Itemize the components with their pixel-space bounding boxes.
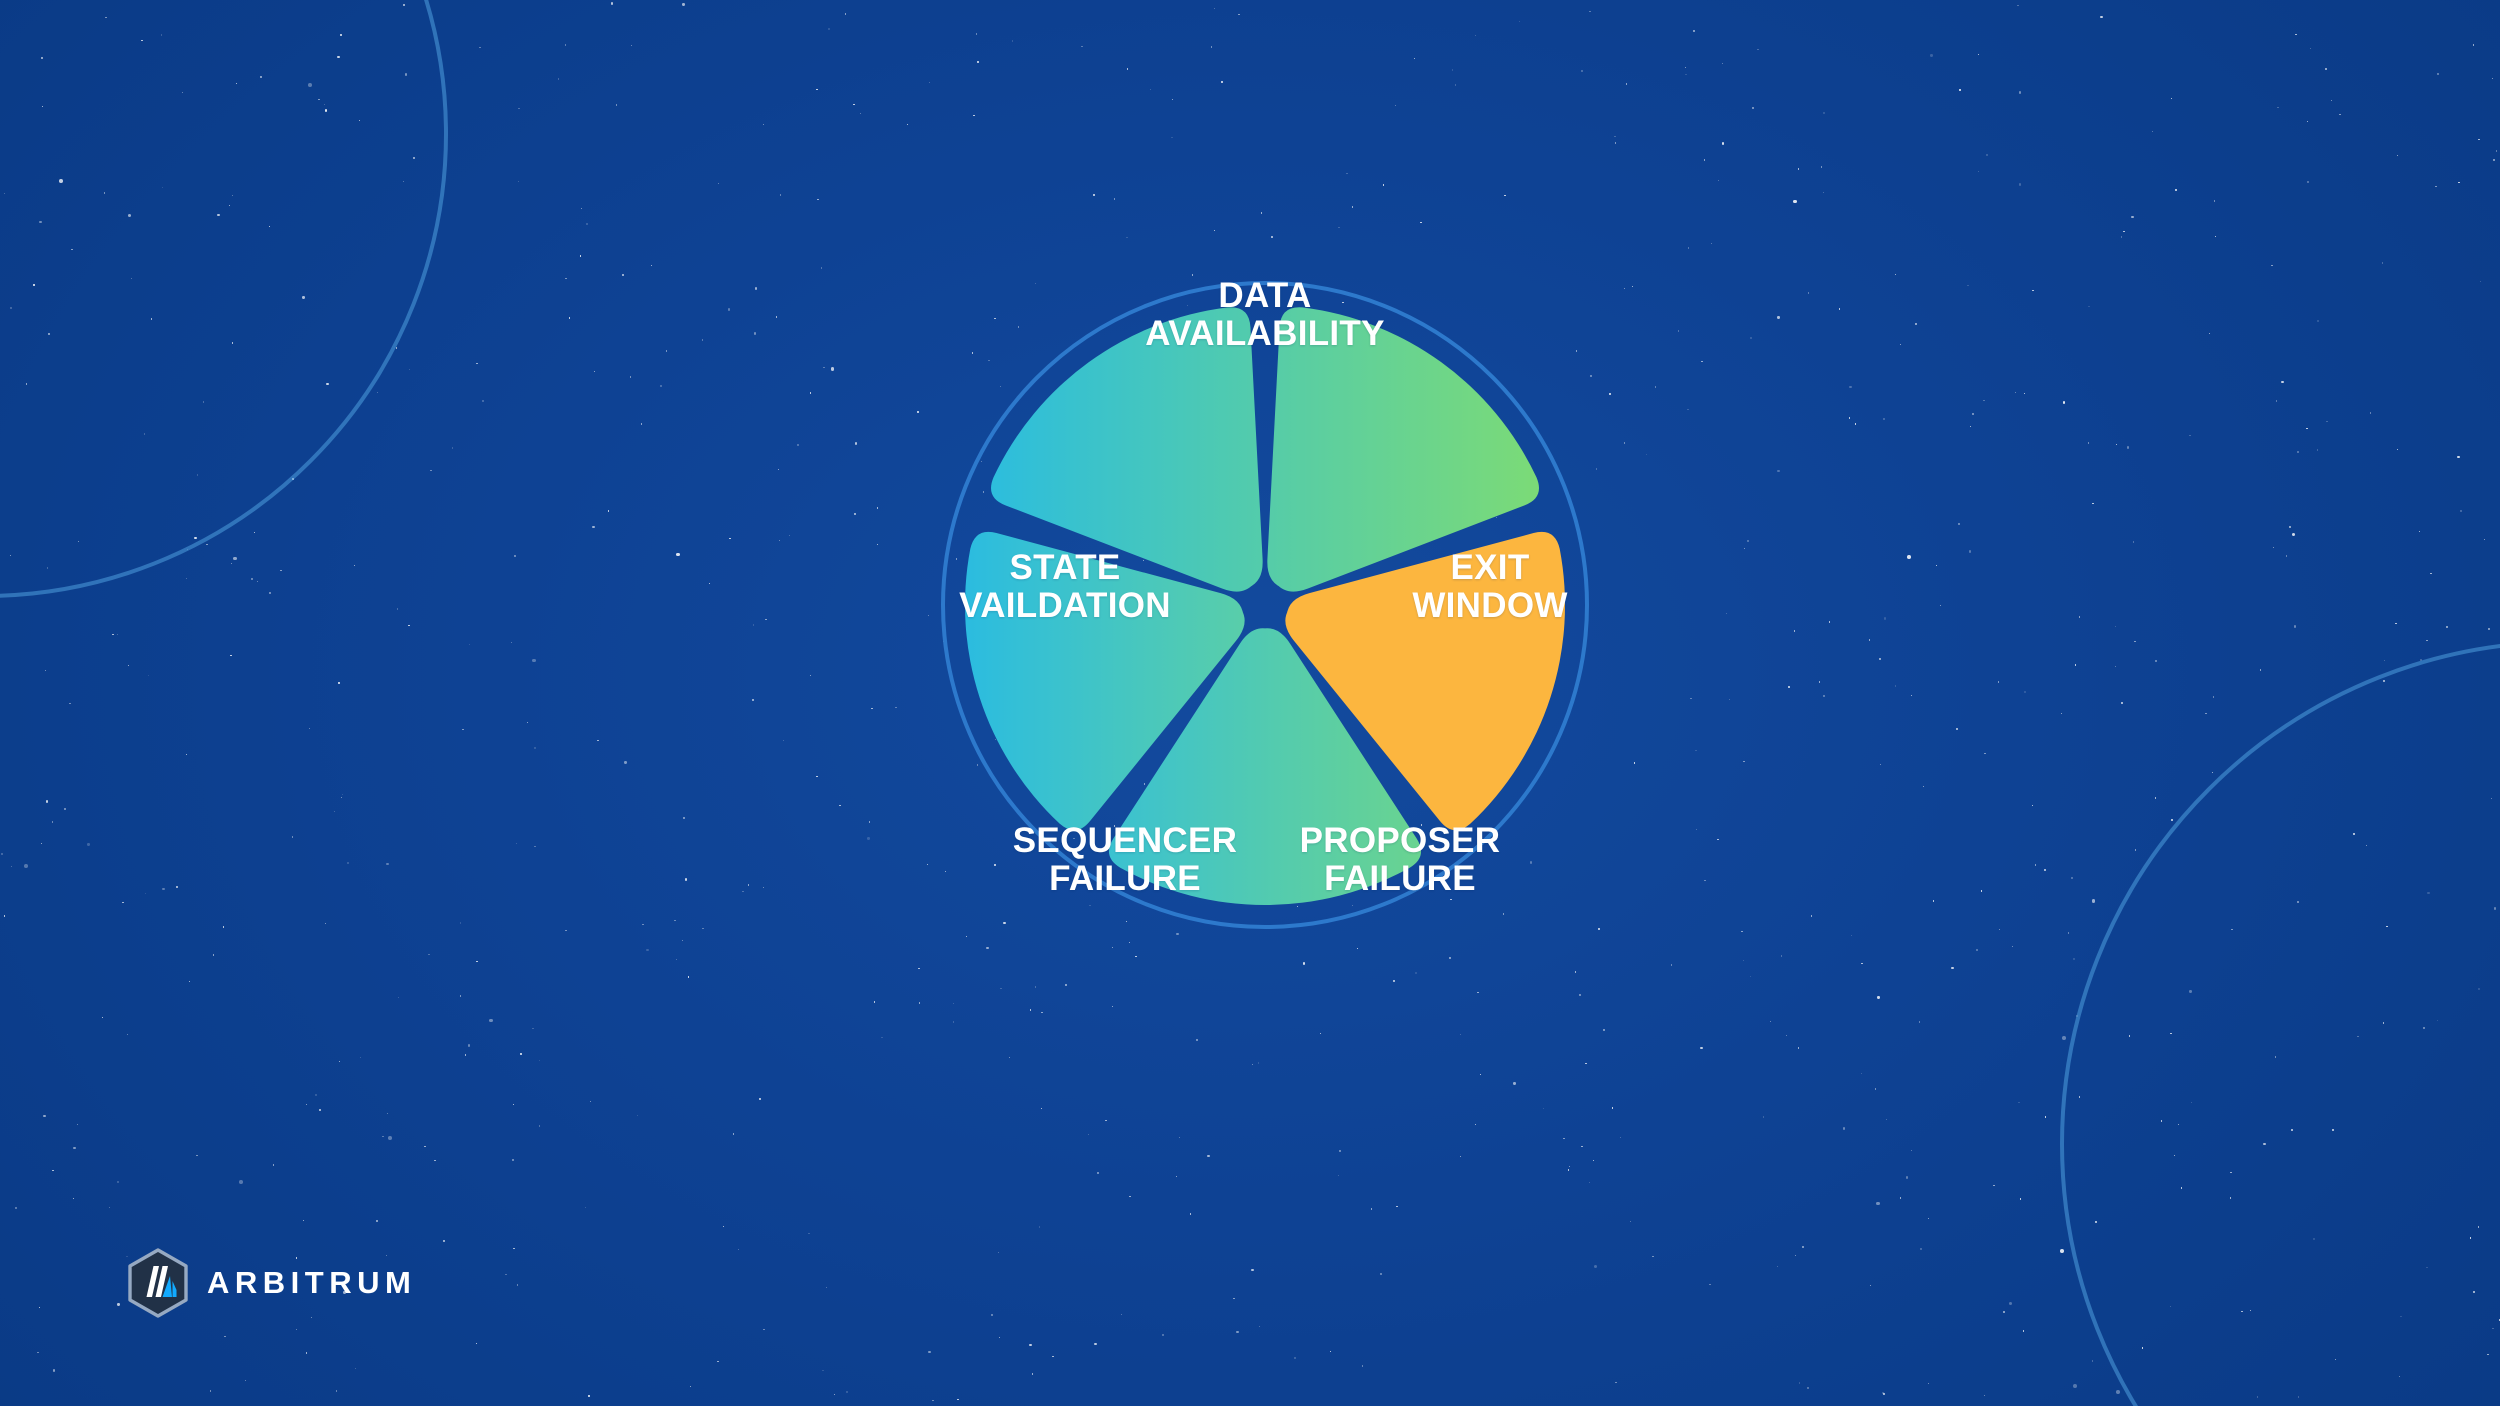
star: [1793, 200, 1797, 204]
star: [251, 578, 252, 579]
star: [2121, 702, 2123, 704]
star: [254, 532, 255, 533]
star: [1823, 112, 1824, 113]
star: [2012, 946, 2013, 947]
star: [468, 1044, 470, 1046]
star: [302, 296, 304, 298]
star: [408, 625, 409, 626]
star: [2437, 1020, 2438, 1021]
star: [334, 811, 335, 812]
star: [292, 836, 293, 837]
star: [59, 179, 63, 183]
star: [1984, 753, 1985, 754]
star: [666, 350, 667, 351]
star: [2437, 73, 2438, 74]
star: [336, 1390, 337, 1391]
star: [2339, 114, 2340, 115]
star: [1807, 1387, 1808, 1388]
star: [319, 1109, 321, 1111]
star: [2095, 1221, 2096, 1222]
star: [2423, 1027, 2424, 1028]
star: [1819, 681, 1820, 682]
star: [1884, 617, 1886, 619]
star: [39, 1307, 40, 1308]
star: [1972, 413, 1974, 415]
star: [340, 34, 341, 35]
star: [2170, 1306, 2171, 1307]
star: [1589, 1182, 1590, 1183]
star: [2142, 1347, 2143, 1348]
star: [2478, 1226, 2479, 1227]
star: [2189, 435, 2190, 436]
star: [2492, 78, 2493, 79]
star: [231, 563, 232, 564]
star: [1895, 685, 1896, 686]
star: [1012, 40, 1013, 41]
star: [2384, 660, 2385, 661]
star: [516, 843, 517, 844]
star: [932, 1400, 933, 1401]
star: [1795, 1255, 1796, 1256]
star: [339, 1061, 340, 1062]
star: [355, 1368, 356, 1369]
star: [2277, 107, 2278, 108]
star: [2100, 16, 2102, 18]
star: [2395, 623, 2396, 624]
star: [631, 45, 632, 46]
star: [1958, 523, 1959, 524]
star: [977, 61, 978, 62]
star: [2271, 265, 2272, 266]
star: [2019, 183, 2021, 185]
star: [10, 555, 11, 556]
star: [128, 214, 132, 218]
star: [642, 924, 643, 925]
star: [1294, 1357, 1295, 1358]
star: [213, 954, 214, 955]
star: [2325, 68, 2327, 70]
star: [47, 567, 48, 568]
star: [1923, 786, 1924, 787]
star: [1214, 8, 1215, 9]
star: [2430, 573, 2431, 574]
star: [2317, 320, 2318, 321]
star: [624, 761, 626, 763]
star: [532, 1028, 533, 1029]
star: [403, 181, 404, 182]
star: [1330, 1351, 1331, 1352]
star: [592, 526, 594, 528]
star: [2230, 1197, 2231, 1198]
star: [2491, 798, 2492, 799]
star: [11, 866, 12, 867]
star: [1129, 1196, 1130, 1197]
star: [991, 1314, 992, 1315]
star: [1882, 1392, 1883, 1393]
star: [452, 447, 453, 448]
star: [398, 997, 399, 998]
star: [1794, 630, 1795, 631]
star: [71, 249, 72, 250]
star: [660, 385, 661, 386]
star: [1630, 1221, 1631, 1222]
star: [2215, 236, 2216, 237]
star: [2127, 446, 2129, 448]
star: [2079, 1096, 2080, 1097]
star: [517, 1284, 518, 1285]
star: [2297, 901, 2299, 903]
star: [1190, 1213, 1191, 1214]
star: [269, 592, 270, 593]
star: [2427, 892, 2429, 894]
star: [15, 1207, 16, 1208]
star: [186, 578, 187, 579]
star: [24, 864, 28, 868]
star: [1821, 166, 1822, 167]
star: [1906, 1176, 1908, 1178]
star: [2131, 216, 2133, 218]
star: [2152, 131, 2153, 132]
star: [489, 1019, 493, 1023]
star: [77, 1124, 78, 1125]
star: [651, 265, 652, 266]
star: [1777, 1266, 1778, 1267]
star: [1936, 565, 1937, 566]
star: [347, 862, 349, 864]
star: [2295, 34, 2296, 35]
star: [2478, 988, 2479, 989]
star: [217, 214, 219, 216]
star: [1475, 35, 1476, 36]
star: [1039, 1226, 1040, 1227]
star: [2492, 1328, 2493, 1329]
star: [428, 954, 429, 955]
star: [430, 470, 431, 471]
star: [2250, 1310, 2251, 1311]
star: [2230, 1172, 2231, 1173]
star: [87, 843, 89, 845]
star: [1919, 1021, 1920, 1022]
star: [1722, 63, 1723, 64]
star: [46, 800, 48, 802]
star: [608, 510, 609, 511]
star: [674, 920, 675, 921]
star: [162, 187, 163, 188]
star: [1581, 70, 1582, 71]
star: [1396, 1206, 1397, 1207]
star: [1969, 550, 1971, 552]
star: [2024, 393, 2025, 394]
star: [1956, 728, 1957, 729]
star: [565, 278, 566, 279]
star: [2073, 958, 2074, 959]
star: [273, 1164, 274, 1165]
star: [1452, 69, 1453, 70]
star: [2129, 1035, 2130, 1036]
star: [2191, 1102, 2192, 1103]
star: [105, 17, 106, 18]
star: [1998, 681, 1999, 682]
star: [2473, 44, 2474, 45]
star: [39, 221, 41, 223]
star: [476, 961, 477, 962]
star: [718, 183, 719, 184]
star: [742, 891, 743, 892]
star: [2275, 1056, 2276, 1057]
star: [1928, 1383, 1929, 1384]
star: [102, 1017, 103, 1018]
star: [2161, 1120, 2162, 1121]
star: [2209, 333, 2210, 334]
star: [2019, 91, 2021, 93]
star: [2307, 181, 2308, 182]
star: [1861, 1073, 1862, 1074]
star: [585, 1207, 586, 1208]
star: [1238, 14, 1239, 15]
star: [280, 570, 281, 571]
star: [482, 400, 483, 401]
star: [2045, 1116, 2046, 1117]
star: [2023, 1330, 2024, 1331]
star: [2003, 1311, 2005, 1313]
star: [1251, 1269, 1253, 1271]
star: [2400, 1316, 2401, 1317]
star: [69, 703, 70, 704]
star: [641, 423, 642, 424]
star: [196, 1155, 197, 1156]
star: [337, 56, 339, 58]
star: [2487, 1354, 2488, 1355]
star: [2213, 696, 2214, 697]
star: [2116, 1390, 2120, 1394]
star: [729, 538, 730, 539]
star: [43, 1115, 45, 1117]
star: [117, 1303, 119, 1305]
star: [1976, 949, 1978, 951]
star: [1221, 81, 1222, 82]
star: [405, 73, 407, 75]
star: [2175, 189, 2176, 190]
star: [145, 893, 146, 894]
star: [1569, 1166, 1570, 1167]
star: [2123, 231, 2124, 232]
star: [230, 655, 231, 656]
star: [233, 557, 237, 561]
star: [2073, 1384, 2077, 1388]
star: [1811, 915, 1812, 916]
star: [1861, 963, 1862, 964]
star: [2399, 1376, 2400, 1377]
star: [2115, 666, 2116, 667]
star: [2383, 1022, 2384, 1023]
star: [928, 1351, 930, 1353]
star: [469, 644, 470, 645]
star: [1877, 996, 1879, 998]
star: [1978, 54, 1979, 55]
star: [2458, 182, 2459, 183]
star: [1094, 1343, 1096, 1345]
star: [151, 318, 152, 319]
star: [1915, 323, 1916, 324]
star: [1233, 1298, 1234, 1299]
star: [1886, 1119, 1887, 1120]
star: [1236, 1331, 1238, 1333]
star: [73, 1198, 74, 1199]
star: [2133, 541, 2134, 542]
star: [2335, 1359, 2336, 1360]
star: [2353, 833, 2354, 834]
star: [144, 433, 145, 434]
star: [845, 13, 846, 14]
star: [309, 728, 310, 729]
star: [354, 565, 355, 566]
star: [1839, 308, 1840, 309]
star: [2032, 290, 2033, 291]
star: [685, 878, 687, 880]
star: [2020, 1198, 2021, 1199]
star: [162, 888, 164, 890]
star: [2419, 531, 2420, 532]
star: [2060, 1249, 2064, 1253]
star: [1880, 764, 1881, 765]
star: [1900, 344, 1901, 345]
star: [388, 1136, 392, 1140]
star: [141, 40, 142, 41]
star: [1799, 1382, 1800, 1383]
star: [539, 1060, 540, 1061]
star: [611, 2, 613, 4]
star: [594, 371, 595, 372]
star: [2092, 503, 2093, 504]
star: [2370, 412, 2371, 413]
star: [2135, 849, 2136, 850]
star: [2214, 200, 2215, 201]
star: [194, 537, 196, 539]
star: [2331, 100, 2332, 101]
star: [1920, 1248, 1921, 1249]
star: [2063, 401, 2065, 403]
star: [597, 740, 598, 741]
star: [1930, 54, 1932, 56]
star: [1870, 1285, 1871, 1286]
star: [148, 675, 149, 676]
star: [1127, 68, 1128, 69]
star: [1869, 639, 1870, 640]
star: [10, 307, 11, 308]
star: [26, 383, 27, 384]
star: [257, 581, 258, 582]
star: [2231, 929, 2232, 930]
star: [558, 78, 559, 79]
star: [1594, 1265, 1598, 1269]
star: [1986, 154, 1987, 155]
star: [1808, 292, 1809, 293]
star: [41, 57, 42, 58]
star: [1563, 1138, 1564, 1139]
star: [976, 33, 977, 34]
star: [1823, 192, 1824, 193]
star: [733, 1133, 734, 1134]
star: [1855, 423, 1856, 424]
star: [2178, 1124, 2179, 1125]
star: [565, 930, 566, 931]
star: [2062, 1036, 2066, 1040]
star: [308, 83, 312, 87]
star: [2257, 1396, 2258, 1397]
star: [232, 195, 233, 196]
star: [1685, 67, 1686, 68]
star: [2289, 526, 2290, 527]
star: [2332, 1129, 2333, 1130]
star: [1959, 89, 1960, 90]
star: [4, 193, 5, 194]
star: [630, 376, 631, 377]
star: [318, 99, 319, 100]
star: [586, 223, 588, 225]
star: [2241, 1311, 2242, 1312]
star: [1371, 1208, 1372, 1209]
star: [580, 255, 581, 256]
star: [1052, 1356, 1053, 1357]
star: [2155, 660, 2156, 661]
star: [460, 922, 461, 923]
star: [342, 794, 343, 795]
star: [1823, 695, 1824, 696]
star: [443, 1240, 444, 1241]
star: [1581, 1146, 1582, 1147]
star: [229, 205, 230, 206]
star: [2092, 899, 2096, 903]
star: [2276, 400, 2277, 401]
star: [846, 1391, 847, 1392]
star: [78, 541, 79, 542]
star: [1615, 1382, 1616, 1383]
star: [424, 1146, 425, 1147]
star: [999, 1337, 1000, 1338]
star: [1176, 1176, 1177, 1177]
star: [45, 670, 46, 671]
arbitrum-wordmark: ARBITRUM: [207, 1265, 416, 1301]
star: [2281, 381, 2283, 383]
star: [2018, 1102, 2019, 1103]
star: [1, 853, 2, 854]
star: [690, 1386, 691, 1387]
star: [64, 808, 66, 810]
star: [518, 108, 519, 109]
star: [1829, 621, 1830, 622]
star: [1879, 658, 1880, 659]
star: [376, 1220, 377, 1221]
star: [117, 634, 118, 635]
star: [2313, 1238, 2314, 1239]
star: [2294, 625, 2296, 627]
star: [109, 1207, 110, 1208]
star: [1593, 1160, 1594, 1161]
star: [2273, 547, 2274, 548]
star: [476, 1343, 477, 1344]
star: [2171, 819, 2172, 820]
star: [476, 363, 477, 364]
star: [709, 583, 710, 584]
star: [1620, 1137, 1621, 1138]
star: [2068, 932, 2069, 933]
star: [2297, 451, 2299, 453]
star: [518, 181, 519, 182]
star: [2205, 713, 2206, 714]
star: [41, 843, 42, 844]
star: [2092, 1360, 2093, 1361]
star: [2397, 155, 2398, 156]
